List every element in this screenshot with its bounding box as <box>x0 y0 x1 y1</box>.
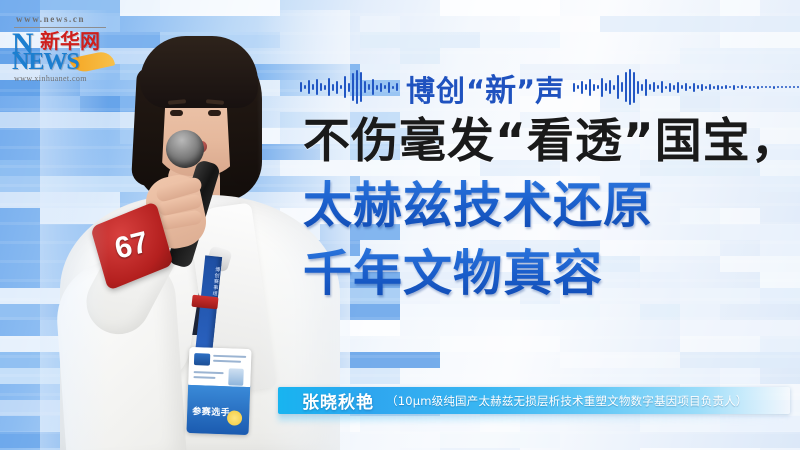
waveform-bar <box>789 86 791 88</box>
waveform-bar <box>781 86 783 88</box>
id-card-label: 参赛选手 <box>192 404 230 418</box>
waveform-bar <box>364 81 366 93</box>
waveform-bar <box>300 82 302 92</box>
id-card-photo <box>228 368 244 386</box>
headline-line-3: 千年文物真容 <box>303 240 800 308</box>
xinhua-logo[interactable]: www.news.cn N NEWS 新华网 www.xinhuanet.com <box>10 14 114 82</box>
waveform-bar <box>625 72 627 102</box>
waveform-bar <box>573 83 575 92</box>
quote-close: ” <box>516 74 535 108</box>
headline-line-2: 太赫兹技术还原 <box>303 172 800 240</box>
waveform-bar <box>705 86 707 89</box>
waveform-bar <box>641 84 643 91</box>
waveform-bar <box>657 85 659 89</box>
waveform-bar <box>328 78 330 96</box>
waveform-left-icon <box>300 67 398 107</box>
waveform-bar <box>793 86 795 88</box>
waveform-bar <box>709 84 711 90</box>
waveform-bar <box>376 85 378 90</box>
waveform-bar <box>649 84 651 90</box>
waveform-bar <box>340 85 342 89</box>
waveform-bar <box>601 78 603 97</box>
id-card-line <box>194 371 224 374</box>
waveform-bar <box>396 83 398 91</box>
waveform-bar <box>669 83 671 92</box>
waveform-bar <box>689 86 691 89</box>
waveform-bar <box>585 84 587 90</box>
eye-right <box>208 110 221 116</box>
id-badge-card: 参赛选手 <box>187 347 252 435</box>
waveform-bar <box>581 81 583 94</box>
speaker-name: 张晓秋艳 <box>302 388 374 413</box>
waveform-bar <box>613 85 615 90</box>
waveform-bar <box>713 86 715 89</box>
video-frame: 67 博创赛事组委会 参赛选手 博创 “ 新 <box>0 0 800 450</box>
waveform-bar <box>685 83 687 91</box>
waveform-bar <box>681 85 683 89</box>
waveform-bar <box>693 83 695 92</box>
waveform-bar <box>757 86 759 89</box>
waveform-bar <box>308 80 310 94</box>
waveform-bar <box>593 84 595 91</box>
logo-url-top: www.news.cn <box>16 14 85 24</box>
hair-front <box>140 36 258 108</box>
waveform-bar <box>773 86 775 89</box>
id-card-top <box>188 347 251 387</box>
quote-open: “ <box>466 74 485 108</box>
waveform-bar <box>673 85 675 90</box>
waveform-bar <box>344 76 346 98</box>
waveform-bar <box>380 83 382 92</box>
waveform-bar <box>753 86 755 88</box>
waveform-bar <box>765 86 767 88</box>
waveform-bar <box>737 86 739 88</box>
logo-chinese-name: 新华网 <box>40 30 100 52</box>
waveform-bar <box>701 84 703 91</box>
waveform-bar <box>741 85 743 89</box>
id-card-seal-icon <box>227 410 243 426</box>
waveform-bar <box>725 85 727 89</box>
waveform-bar <box>368 84 370 90</box>
waveform-bar <box>356 70 358 104</box>
program-title-part1: 博创 <box>406 68 466 110</box>
program-title-part2: 新 <box>485 65 516 110</box>
waveform-bar <box>384 85 386 89</box>
waveform-bar <box>597 85 599 89</box>
waveform-bar <box>621 82 623 92</box>
waveform-bar <box>629 69 631 105</box>
waveform-bar <box>717 85 719 90</box>
waveform-bar <box>324 85 326 90</box>
waveform-bar <box>352 73 354 101</box>
waveform-bar <box>332 84 334 91</box>
waveform-bar <box>633 72 635 103</box>
waveform-bar <box>665 86 667 89</box>
logo-url-bottom: www.xinhuanet.com <box>14 74 87 83</box>
headline-block: 不伤毫发“看透”国宝， 太赫兹技术还原 千年文物真容 <box>303 112 800 308</box>
waveform-bar <box>360 72 362 102</box>
waveform-bar <box>661 81 663 93</box>
waveform-bar <box>348 83 350 92</box>
program-title: 博创 “ 新 ” 声 <box>406 65 565 110</box>
speaker-role: （10μm级纯国产太赫兹无损层析技术重塑文物数字基因项目负责人） <box>386 393 748 409</box>
waveform-bar <box>312 84 314 90</box>
waveform-bar <box>388 82 390 93</box>
waveform-bar <box>777 86 779 88</box>
eye-left <box>170 110 183 116</box>
waveform-bar <box>617 75 619 99</box>
badge-number: 67 <box>112 225 153 266</box>
waveform-bar <box>320 83 322 91</box>
program-title-row: 博创 “ 新 ” 声 <box>300 64 796 110</box>
lanyard-clip <box>191 295 218 310</box>
waveform-bar <box>785 86 787 88</box>
logo-wordmark: NEWS <box>12 50 79 74</box>
waveform-bar <box>729 86 731 88</box>
waveform-bar <box>577 85 579 89</box>
waveform-bar <box>589 79 591 96</box>
waveform-bar <box>609 80 611 94</box>
waveform-right-icon <box>573 67 800 107</box>
waveform-bar <box>316 79 318 95</box>
id-card-line <box>213 355 246 358</box>
waveform-bar <box>645 79 647 96</box>
id-card-logo-icon <box>194 353 210 366</box>
waveform-bar <box>304 85 306 89</box>
waveform-bar <box>637 81 639 94</box>
waveform-bar <box>769 86 771 88</box>
id-card-bottom: 参赛选手 <box>187 385 251 435</box>
waveform-bar <box>605 83 607 91</box>
waveform-bar <box>677 82 679 93</box>
headline-line-1: 不伤毫发“看透”国宝， <box>303 112 800 172</box>
waveform-bar <box>336 81 338 94</box>
waveform-bar <box>697 85 699 89</box>
waveform-bar <box>653 82 655 92</box>
waveform-bar <box>721 86 723 89</box>
id-card-line <box>213 360 241 363</box>
id-card-line <box>193 376 215 379</box>
lower-third-caption: 张晓秋艳 （10μm级纯国产太赫兹无损层析技术重塑文物数字基因项目负责人） <box>278 387 790 414</box>
waveform-bar <box>797 86 799 88</box>
caption-glow <box>278 414 790 421</box>
waveform-bar <box>372 79 374 95</box>
waveform-bar <box>392 86 394 89</box>
program-title-part3: 声 <box>535 68 565 110</box>
waveform-bar <box>745 86 747 88</box>
waveform-bar <box>761 86 763 88</box>
waveform-bar <box>749 86 751 89</box>
waveform-bar <box>733 85 735 90</box>
